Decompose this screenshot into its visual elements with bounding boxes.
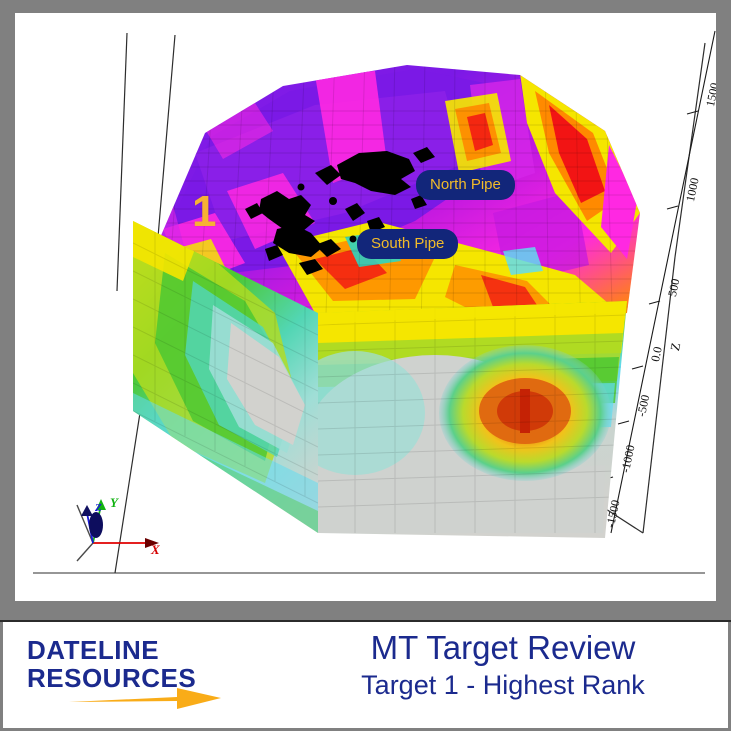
model-panel: 1500 1000 500 0.0 -500 -1000 -1500 Z X Y…	[15, 13, 716, 601]
slide-subtitle: Target 1 - Highest Rank	[303, 668, 703, 702]
footer: DATELINE RESOURCES MT Target Review Targ…	[3, 622, 728, 728]
axis-x-label: X	[151, 542, 160, 558]
divider-band	[0, 601, 731, 620]
logo-line-1: DATELINE	[27, 636, 257, 664]
target-number-label: 1	[192, 190, 216, 234]
label-south-pipe: South Pipe	[357, 229, 458, 259]
z-tick-0: 0.0	[648, 345, 666, 363]
slide-root: 1500 1000 500 0.0 -500 -1000 -1500 Z X Y…	[0, 0, 731, 731]
side-section	[285, 293, 640, 553]
slide-title: MT Target Review	[303, 628, 703, 668]
slide-title-block: MT Target Review Target 1 - Highest Rank	[303, 628, 703, 702]
label-north-pipe: North Pipe	[416, 170, 515, 200]
logo-arrow-icon	[69, 684, 229, 710]
axis-z-label: Z	[95, 502, 102, 514]
axis-y-label: Y	[110, 495, 118, 511]
